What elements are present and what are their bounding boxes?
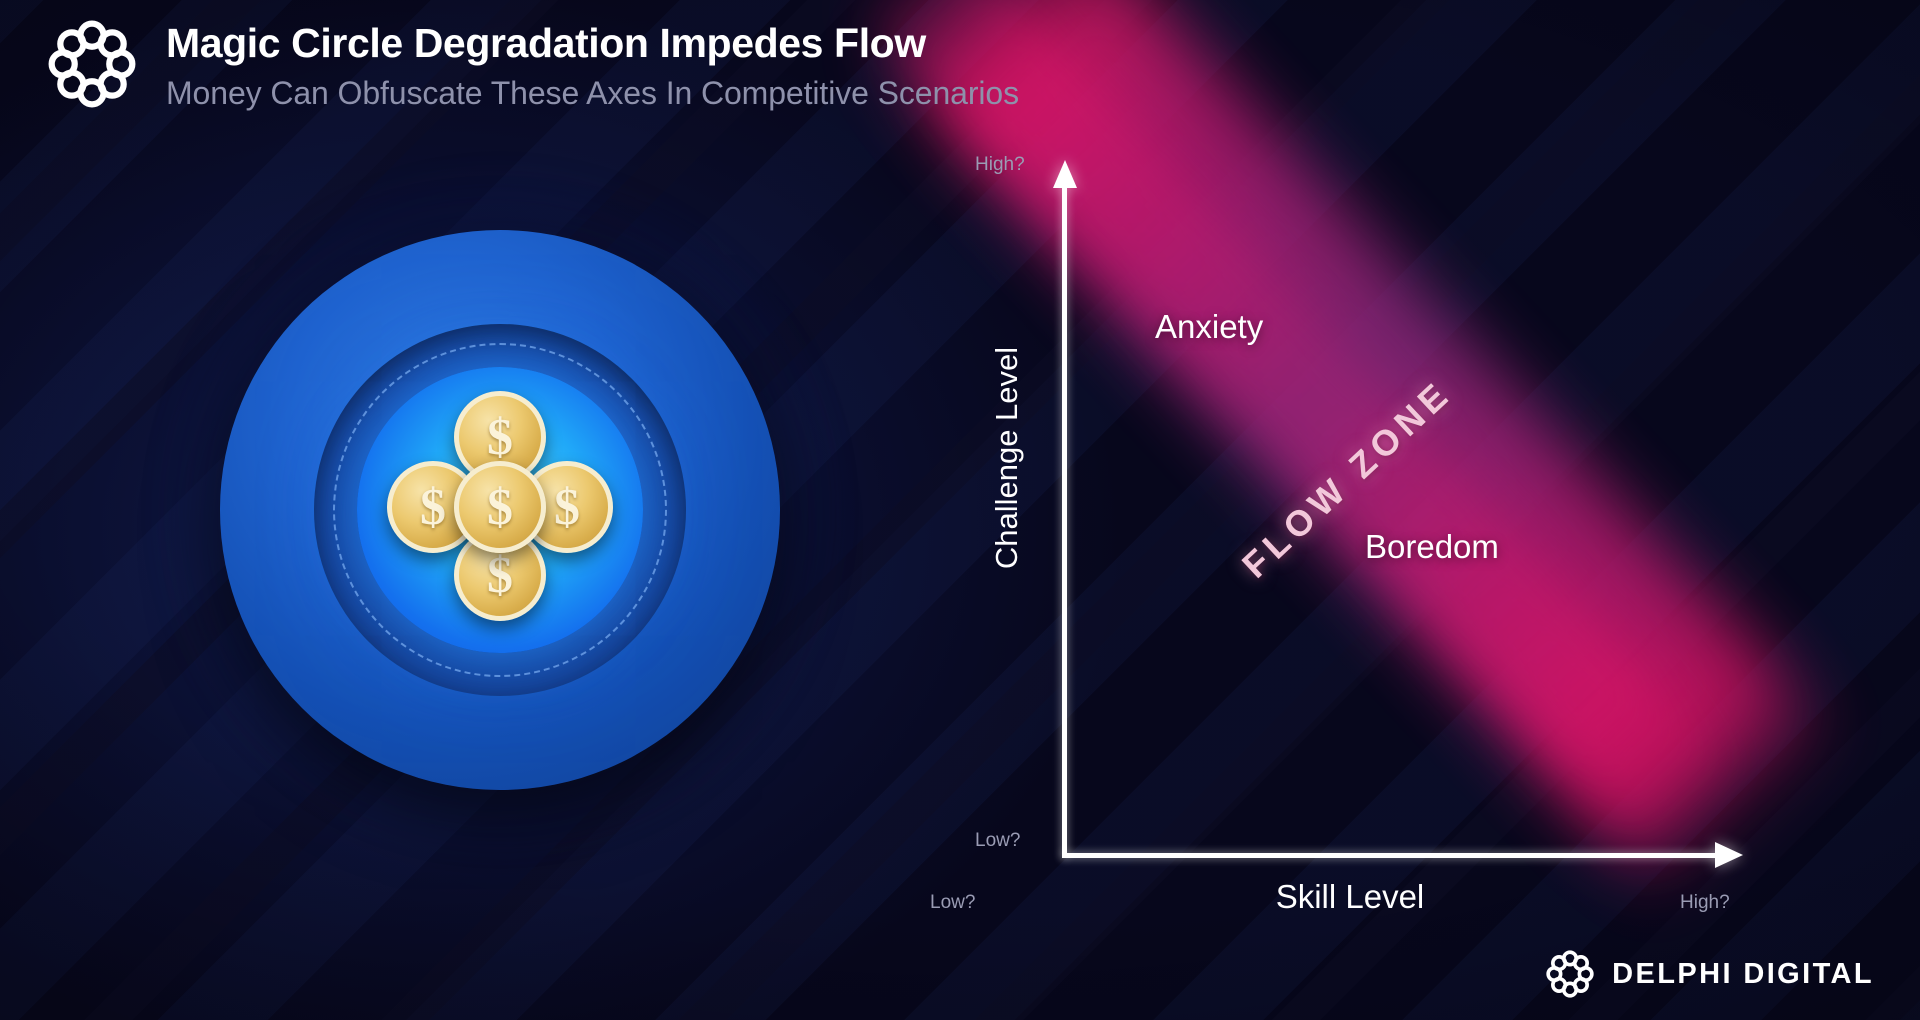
x-axis-line [1062,853,1722,858]
flow-channel-chart: High? Low? Low? High? Challenge Level Sk… [980,140,1780,900]
x-axis-title: Skill Level [1040,878,1660,916]
y-axis-tick-high: High? [975,154,1025,176]
delphi-knot-logo-icon [44,16,140,112]
footer-brand: DELPHI DIGITAL [1544,948,1874,1000]
zone-label-boredom: Boredom [1365,528,1499,566]
header-texts: Magic Circle Degradation Impedes Flow Mo… [166,14,1019,111]
coin-cluster: $ $ $ $ $ [385,395,615,625]
header: Magic Circle Degradation Impedes Flow Mo… [44,14,1019,112]
x-axis-tick-high: High? [1680,892,1730,914]
x-axis-arrow-icon [1715,842,1743,868]
coin-icon: $ [454,461,546,553]
y-axis-line [1062,188,1067,858]
page-subtitle: Money Can Obfuscate These Axes In Compet… [166,77,1019,111]
magic-circle-illustration: $ $ $ $ $ [150,130,850,890]
zone-label-anxiety: Anxiety [1155,308,1263,346]
x-axis-tick-low: Low? [930,892,975,914]
delphi-knot-logo-icon [1544,948,1596,1000]
y-axis-title: Challenge Level [989,313,1025,603]
infographic-canvas: Magic Circle Degradation Impedes Flow Mo… [0,0,1920,1020]
y-axis-arrow-icon [1053,160,1077,188]
page-title: Magic Circle Degradation Impedes Flow [166,22,1019,65]
footer-wordmark: DELPHI DIGITAL [1612,958,1874,991]
y-axis-tick-low: Low? [975,830,1020,852]
